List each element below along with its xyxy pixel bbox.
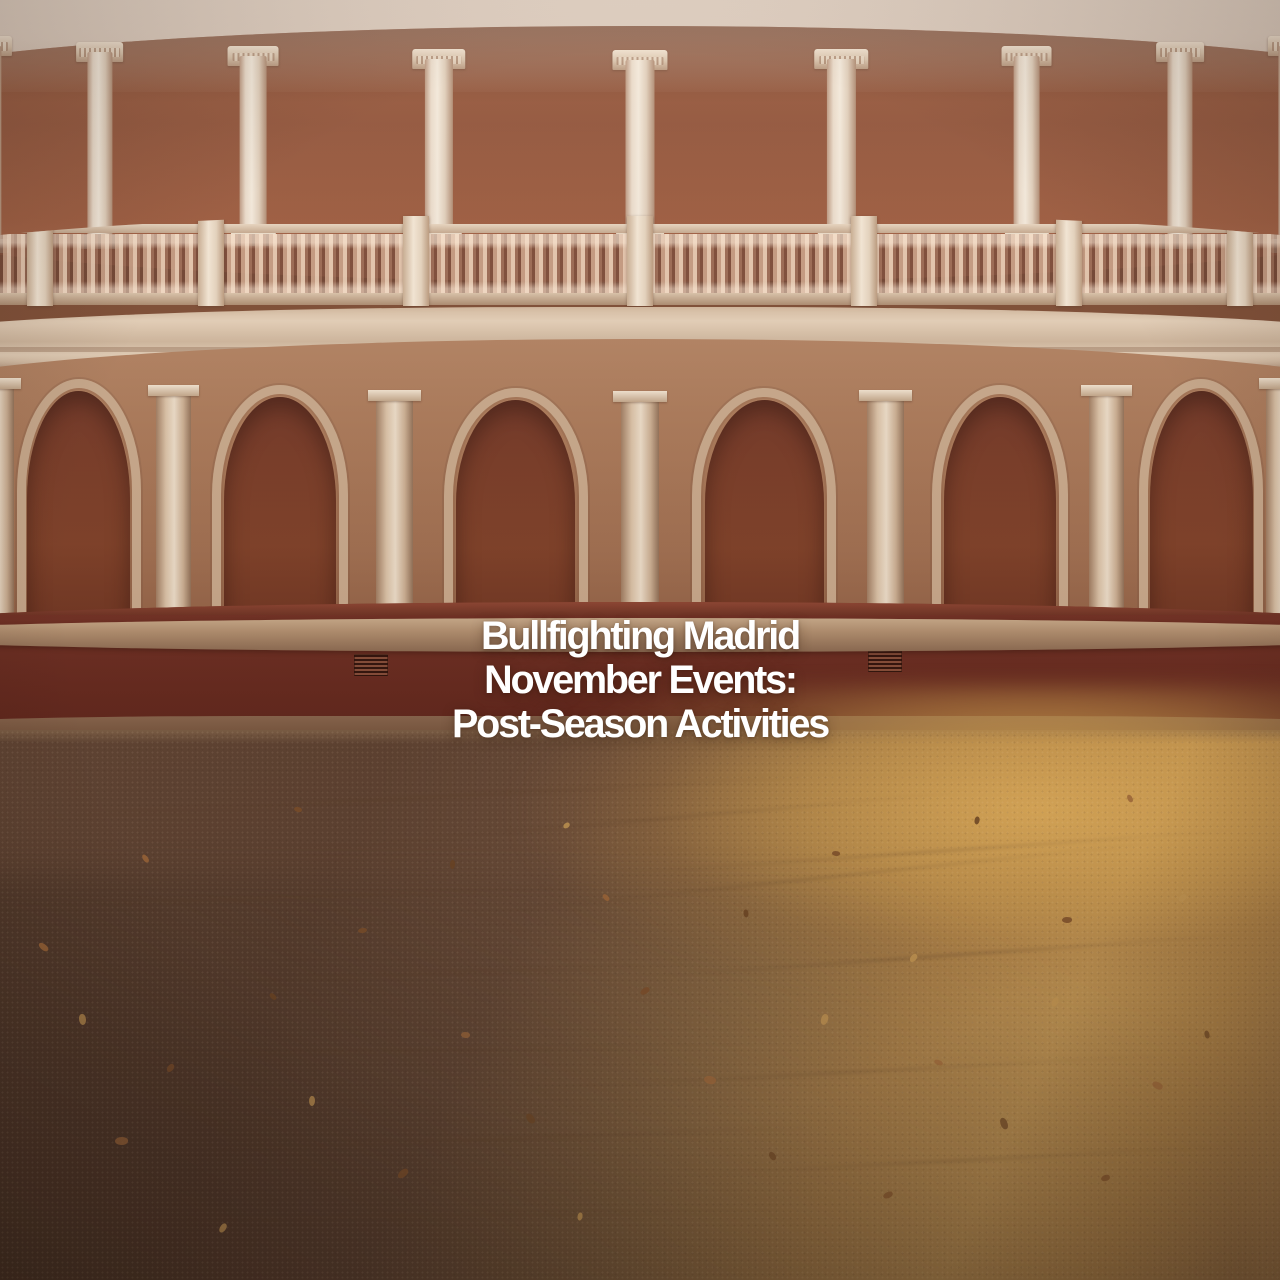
pier-capital <box>368 390 421 401</box>
pier-capital <box>0 378 21 389</box>
balustrade-pier <box>27 216 53 306</box>
barrera-wood-rail <box>0 618 1280 651</box>
gallery-column <box>1013 56 1040 238</box>
balustrade-pier <box>627 216 653 306</box>
fallen-leaf <box>79 1014 86 1025</box>
barrera-top-edge <box>0 602 1280 616</box>
column-shaft <box>626 60 655 236</box>
gallery-column <box>827 59 855 237</box>
column-shaft <box>827 59 855 237</box>
balustrade-pier <box>1056 216 1082 306</box>
gallery-column <box>240 56 267 238</box>
poster-canvas: Bullfighting Madrid November Events: Pos… <box>0 0 1280 1280</box>
gallery-column <box>87 52 112 242</box>
pier-capital <box>1081 385 1131 396</box>
background-photo <box>0 0 1280 1280</box>
arena-sand <box>0 730 1280 1280</box>
arched-arcade <box>0 339 1280 646</box>
gallery-column <box>1168 52 1193 242</box>
pier-capital <box>613 391 668 402</box>
sand-grain-texture <box>0 730 1280 1280</box>
balustrade-pier <box>851 216 877 306</box>
gallery-column <box>424 59 452 237</box>
wall-vent-right <box>868 650 902 672</box>
pier-capital <box>859 390 912 401</box>
column-shaft <box>87 52 112 242</box>
column-capital <box>0 36 12 56</box>
balustrade-pier <box>198 216 224 306</box>
column-shaft <box>1168 52 1193 242</box>
column-shaft <box>424 59 452 237</box>
gallery-column <box>626 60 655 236</box>
pier-capital <box>1259 378 1280 389</box>
pier-capital <box>148 385 198 396</box>
balustrade-pier <box>1227 216 1253 306</box>
column-shaft <box>1013 56 1040 238</box>
gallery-column <box>0 46 1 245</box>
wall-vent-left <box>354 654 388 676</box>
column-shaft <box>0 46 1 245</box>
column-shaft <box>240 56 267 238</box>
balustrade-pier <box>403 216 429 306</box>
